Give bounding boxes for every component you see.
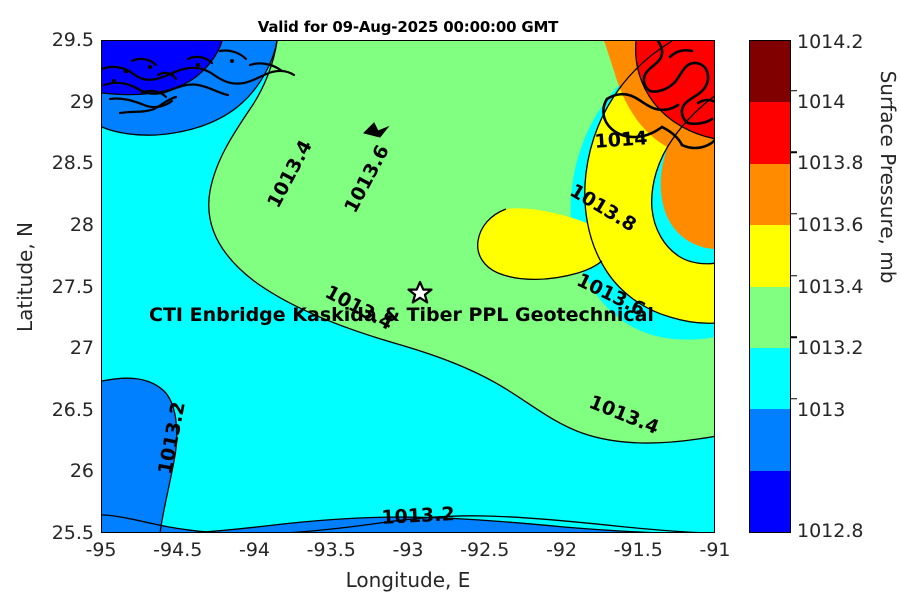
y-tick: 26.5 — [14, 399, 94, 421]
colorbar-band — [750, 102, 790, 163]
colorbar-band — [750, 409, 790, 470]
contour-label: 1014 — [594, 127, 648, 153]
x-axis-label: Longitude, E — [101, 568, 715, 592]
y-tick: 29 — [14, 91, 94, 113]
y-tick: 26 — [14, 460, 94, 482]
colorbar-band — [750, 348, 790, 409]
colorbar-tick: 1013.6 — [797, 214, 863, 236]
colorbar-tick: 1013.2 — [797, 337, 863, 359]
contour-map-figure: Valid for 09-Aug-2025 00:00:00 GMT — [0, 0, 900, 600]
colorbar-tick: 1013.4 — [797, 276, 863, 298]
colorbar-tick: 1012.8 — [797, 520, 863, 542]
colorbar-band — [750, 471, 790, 532]
contour-plot-area: 1013.4 1013.6 1014 1013.8 1013.6 1013.4 … — [101, 40, 715, 533]
colorbar-tick: 1014.2 — [797, 31, 863, 53]
x-tick: -91 — [670, 539, 760, 561]
colorbar — [749, 40, 791, 533]
contour-field — [102, 41, 715, 533]
colorbar-tick: 1013.8 — [797, 152, 863, 174]
x-axis-ticks: -95 -94.5 -94 -93.5 -93 -92.5 -92 -91.5 … — [101, 539, 715, 569]
site-annotation-label: CTI Enbridge Kaskida & Tiber PPL Geotech… — [149, 304, 654, 326]
colorbar-label: Surface Pressure, mb — [876, 52, 900, 302]
colorbar-tick: 1014 — [797, 91, 845, 113]
y-tick: 29.5 — [14, 29, 94, 51]
y-axis-label: Latitude, N — [13, 157, 37, 397]
colorbar-band — [750, 225, 790, 286]
contour-label: 1013.2 — [381, 503, 455, 529]
colorbar-tick: 1013 — [797, 399, 845, 421]
colorbar-band — [750, 164, 790, 225]
colorbar-band — [750, 41, 790, 102]
colorbar-band — [750, 287, 790, 348]
page-title: Valid for 09-Aug-2025 00:00:00 GMT — [101, 18, 715, 36]
